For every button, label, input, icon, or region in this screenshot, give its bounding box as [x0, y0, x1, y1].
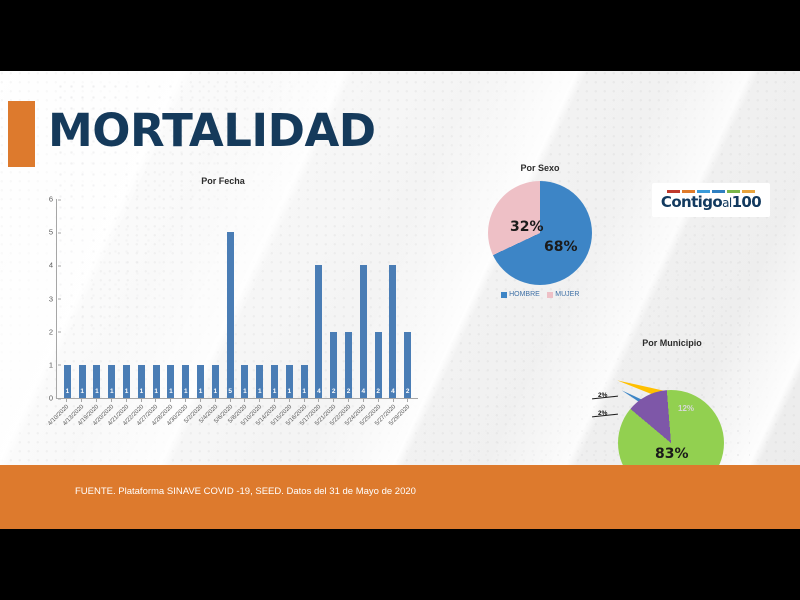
- bar: 1: [167, 365, 174, 398]
- x-axis-tick: [96, 399, 97, 402]
- x-label-slot: 5/8/2020: [237, 402, 252, 462]
- bar: 1: [123, 365, 130, 398]
- bar: 1: [153, 365, 160, 398]
- bar: 1: [271, 365, 278, 398]
- bar: 2: [345, 332, 352, 398]
- x-label-slot: 4/10/2020: [59, 402, 74, 462]
- x-axis-tick: [126, 399, 127, 402]
- contigo-al-100-logo: Contigoal100: [652, 183, 770, 217]
- x-axis-tick: [170, 399, 171, 402]
- x-label-slot: 4/20/2020: [103, 402, 118, 462]
- x-axis-tick: [141, 399, 142, 402]
- bar-value-label: 1: [258, 389, 262, 399]
- bar-value-label: 2: [406, 389, 410, 399]
- x-label-slot: 4/28/2020: [163, 402, 178, 462]
- x-axis-tick: [363, 399, 364, 402]
- page-title: MORTALIDAD: [48, 104, 376, 157]
- bar: 1: [286, 365, 293, 398]
- x-axis-tick: [393, 399, 394, 402]
- bar-slot: 1: [119, 199, 134, 398]
- pie-sexo-value-hombre: 68%: [544, 239, 578, 255]
- x-axis-tick: [407, 399, 408, 402]
- bar-value-label: 5: [228, 389, 232, 399]
- bar-value-label: 1: [66, 389, 70, 399]
- bar: 1: [241, 365, 248, 398]
- y-axis-tick: 4: [49, 261, 57, 270]
- legend-swatch: [547, 292, 553, 298]
- bar: 1: [93, 365, 100, 398]
- bar: 2: [404, 332, 411, 398]
- bar-slot: 1: [297, 199, 312, 398]
- bar-value-label: 1: [95, 389, 99, 399]
- bar: 2: [375, 332, 382, 398]
- x-axis-tick: [185, 399, 186, 402]
- bar: 1: [212, 365, 219, 398]
- bar: 4: [315, 265, 322, 398]
- bar-value-label: 1: [125, 389, 129, 399]
- x-axis-tick: [348, 399, 349, 402]
- bar-slot: 1: [282, 199, 297, 398]
- x-label-slot: 4/27/2020: [148, 402, 163, 462]
- legend-item[interactable]: MUJER: [547, 291, 580, 298]
- bar-value-label: 2: [347, 389, 351, 399]
- bar: 1: [108, 365, 115, 398]
- x-label-slot: 4/19/2020: [89, 402, 104, 462]
- bar-value-label: 1: [110, 389, 114, 399]
- x-axis-tick: [66, 399, 67, 402]
- logo-wordmark: Contigoal100: [661, 195, 761, 210]
- bar: 1: [301, 365, 308, 398]
- pie-chart-por-sexo: Por Sexo 68% 32% HOMBREMUJER: [452, 163, 628, 298]
- x-label-slot: 5/25/2020: [370, 402, 385, 462]
- bar-slot: 2: [371, 199, 386, 398]
- x-label-slot: 5/4/2020: [207, 402, 222, 462]
- bar: 1: [182, 365, 189, 398]
- x-label-slot: 5/14/2020: [267, 402, 282, 462]
- bar: 1: [64, 365, 71, 398]
- bar-slot: 1: [238, 199, 253, 398]
- bar-value-label: 1: [243, 389, 247, 399]
- bar-slot: 1: [208, 199, 223, 398]
- bar: 1: [79, 365, 86, 398]
- x-label-slot: 5/24/2020: [356, 402, 371, 462]
- pie-sexo-title: Por Sexo: [452, 163, 628, 173]
- pie-sexo-graphic: 68% 32%: [488, 181, 592, 285]
- pie-sexo-value-mujer: 32%: [510, 219, 544, 235]
- y-axis-tick: 1: [49, 360, 57, 369]
- bar-value-label: 1: [154, 389, 158, 399]
- x-axis-tick: [81, 399, 82, 402]
- bar-slot: 1: [164, 199, 179, 398]
- y-axis-tick: 5: [49, 228, 57, 237]
- pie-municipio-value-foraneos: 12%: [678, 404, 694, 413]
- bar-slot: 2: [326, 199, 341, 398]
- footer-source-text: FUENTE. Plataforma SINAVE COVID -19, SEE…: [75, 486, 416, 497]
- bar-slot: 1: [134, 199, 149, 398]
- legend-label: HOMBRE: [509, 291, 540, 298]
- x-axis-tick: [244, 399, 245, 402]
- bar-slot: 1: [75, 199, 90, 398]
- bar-slot: 2: [400, 199, 415, 398]
- bar-slot: 4: [312, 199, 327, 398]
- bar-value-label: 2: [332, 389, 336, 399]
- bar-value-label: 1: [214, 389, 218, 399]
- legend-label: MUJER: [555, 291, 579, 298]
- x-axis-tick: [215, 399, 216, 402]
- bar-slot: 2: [341, 199, 356, 398]
- bar-slot: 4: [356, 199, 371, 398]
- bar-value-label: 1: [140, 389, 144, 399]
- bar: 2: [330, 332, 337, 398]
- bar: 4: [389, 265, 396, 398]
- bar-value-label: 1: [80, 389, 84, 399]
- bar-chart-title: Por Fecha: [18, 176, 428, 186]
- slide-screenshot: MORTALIDAD Contigoal100 Por Fecha 654321…: [0, 0, 800, 600]
- x-label-slot: 4/21/2020: [118, 402, 133, 462]
- y-axis-tick: 2: [49, 327, 57, 336]
- bar: 5: [227, 232, 234, 398]
- x-label-slot: 5/29/2020: [400, 402, 415, 462]
- bar: 1: [256, 365, 263, 398]
- bar-slot: 1: [267, 199, 282, 398]
- x-label-slot: 5/16/2020: [296, 402, 311, 462]
- x-axis-tick: [155, 399, 156, 402]
- legend-item[interactable]: HOMBRE: [501, 291, 540, 298]
- x-axis-tick: [200, 399, 201, 402]
- x-axis-tick: [378, 399, 379, 402]
- presentation-slide: MORTALIDAD Contigoal100 Por Fecha 654321…: [0, 71, 800, 529]
- bar-value-label: 4: [317, 389, 321, 399]
- x-axis-tick: [230, 399, 231, 402]
- bar-slot: 1: [252, 199, 267, 398]
- bar-value-label: 2: [376, 389, 380, 399]
- bar: 1: [138, 365, 145, 398]
- bar-slot: 1: [149, 199, 164, 398]
- y-axis-tick: 6: [49, 195, 57, 204]
- x-axis-tick: [111, 399, 112, 402]
- x-axis-tick: [289, 399, 290, 402]
- bar-value-label: 4: [391, 389, 395, 399]
- bar-value-label: 1: [199, 389, 203, 399]
- x-label-slot: 4/22/2020: [133, 402, 148, 462]
- x-axis-tick: [274, 399, 275, 402]
- bar: 1: [197, 365, 204, 398]
- bar-value-label: 1: [302, 389, 306, 399]
- x-label-slot: 4/30/2020: [178, 402, 193, 462]
- logo-text-al: al: [722, 196, 732, 210]
- x-axis-tick: [333, 399, 334, 402]
- legend-swatch: [501, 292, 507, 298]
- logo-text-100: 100: [732, 193, 762, 211]
- pie-municipio-title: Por Municipio: [572, 338, 772, 348]
- bar-value-label: 1: [184, 389, 188, 399]
- bar-value-label: 1: [169, 389, 173, 399]
- bar-slot: 1: [104, 199, 119, 398]
- logo-text-contigo: Contigo: [661, 193, 722, 211]
- x-axis-tick: [259, 399, 260, 402]
- x-axis-tick: [304, 399, 305, 402]
- bar-chart-plot-area: 6543210 111111111115111114224242: [56, 199, 418, 399]
- bar-slot: 1: [193, 199, 208, 398]
- footer-band: [0, 465, 800, 529]
- bar: 4: [360, 265, 367, 398]
- bar-slot: 1: [178, 199, 193, 398]
- x-label-slot: 5/22/2020: [341, 402, 356, 462]
- x-label-slot: 5/17/2020: [311, 402, 326, 462]
- pie-sexo-legend: HOMBREMUJER: [452, 291, 628, 298]
- x-label-slot: 5/10/2020: [252, 402, 267, 462]
- bar-series: 111111111115111114224242: [57, 199, 418, 398]
- x-axis-labels: 4/10/20204/13/20204/19/20204/20/20204/21…: [56, 402, 418, 462]
- x-label-slot: 5/15/2020: [281, 402, 296, 462]
- bar-slot: 4: [386, 199, 401, 398]
- x-label-slot: 5/21/2020: [326, 402, 341, 462]
- bar-value-label: 4: [362, 389, 366, 399]
- x-label-slot: 5/6/2020: [222, 402, 237, 462]
- x-axis-tick: [318, 399, 319, 402]
- x-label-slot: 4/13/2020: [74, 402, 89, 462]
- pie-municipio-value-ags: 83%: [655, 446, 689, 462]
- bar-chart-por-fecha: Por Fecha 6543210 1111111111151111142242…: [18, 176, 428, 466]
- bar-value-label: 1: [273, 389, 277, 399]
- title-accent-bar: [8, 101, 35, 167]
- bar-slot: 5: [223, 199, 238, 398]
- bar-slot: 1: [90, 199, 105, 398]
- bar-value-label: 1: [288, 389, 292, 399]
- x-label-slot: 5/27/2020: [385, 402, 400, 462]
- bar-slot: 1: [60, 199, 75, 398]
- x-label-slot: 5/2/2020: [192, 402, 207, 462]
- y-axis-tick: 3: [49, 294, 57, 303]
